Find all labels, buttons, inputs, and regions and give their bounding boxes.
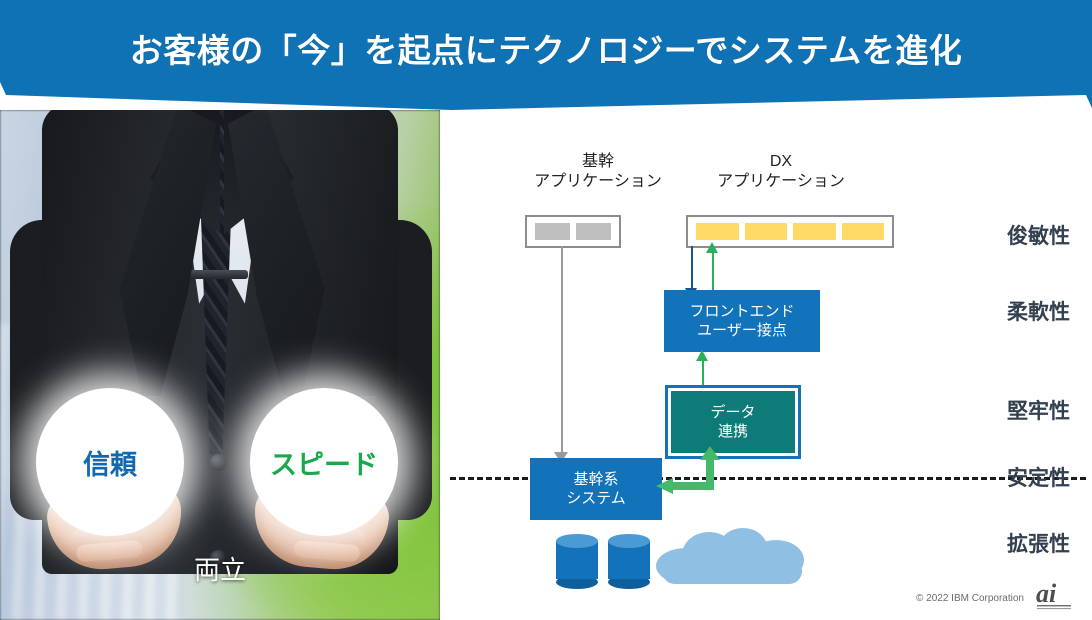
dx-up-arrow-head: [706, 242, 718, 253]
suit-button-upper: [210, 454, 227, 471]
ai-logo: ai: [1034, 578, 1082, 612]
legacy-arrow-line: [561, 246, 563, 454]
right-label-agility: 俊敏性: [1007, 220, 1070, 250]
label-dx-app: DX アプリケーション: [676, 152, 886, 191]
core-application-box: [525, 215, 621, 248]
frontend-box: フロントエンド ユーザー接点: [664, 290, 820, 352]
label-core-app: 基幹 アプリケーション: [498, 152, 698, 191]
copyright-text: © 2022 IBM Corporation: [916, 593, 1024, 604]
cloud-icon: [656, 528, 808, 584]
page-title: お客様の「今」を起点にテクノロジーでシステムを進化: [0, 0, 1092, 96]
circle-trust-label: 信頼: [83, 443, 137, 482]
data-to-core-arrow-head-up: [700, 446, 720, 460]
circle-trust: 信頼: [36, 388, 184, 536]
right-label-robustness: 堅牢性: [1007, 395, 1070, 425]
right-label-scalability: 拡張性: [1007, 528, 1070, 558]
core-app-chip: [535, 223, 570, 240]
core-system-box: 基幹系 システム: [530, 458, 662, 520]
data-link-box: データ 連携: [668, 388, 798, 456]
core-app-chip: [576, 223, 611, 240]
right-label-flexibility: 柔軟性: [1007, 296, 1070, 326]
circle-speed-label: スピード: [270, 443, 378, 482]
dx-app-chip: [745, 223, 788, 240]
database-cylinder: [556, 534, 598, 582]
dx-down-arrow-line: [691, 246, 693, 290]
photo-caption: 両立: [0, 550, 440, 587]
dx-app-chip: [793, 223, 836, 240]
crossing-arrow-head-up: [696, 350, 708, 361]
data-to-core-arrow-head: [656, 478, 673, 494]
architecture-diagram: 基幹 アプリケーション DX アプリケーション フロントエンド ユーザー接点 デ…: [440, 110, 1092, 620]
database-cylinder: [608, 534, 650, 582]
hero-photo: 信頼 スピード 両立: [0, 110, 440, 620]
circle-speed: スピード: [250, 388, 398, 536]
right-label-stability: 安定性: [1007, 462, 1070, 492]
tie-clip: [186, 270, 248, 279]
svg-text:ai: ai: [1036, 579, 1057, 608]
dx-app-chip: [696, 223, 739, 240]
data-to-core-arrow-horizontal: [672, 482, 714, 490]
dx-app-chip: [842, 223, 885, 240]
